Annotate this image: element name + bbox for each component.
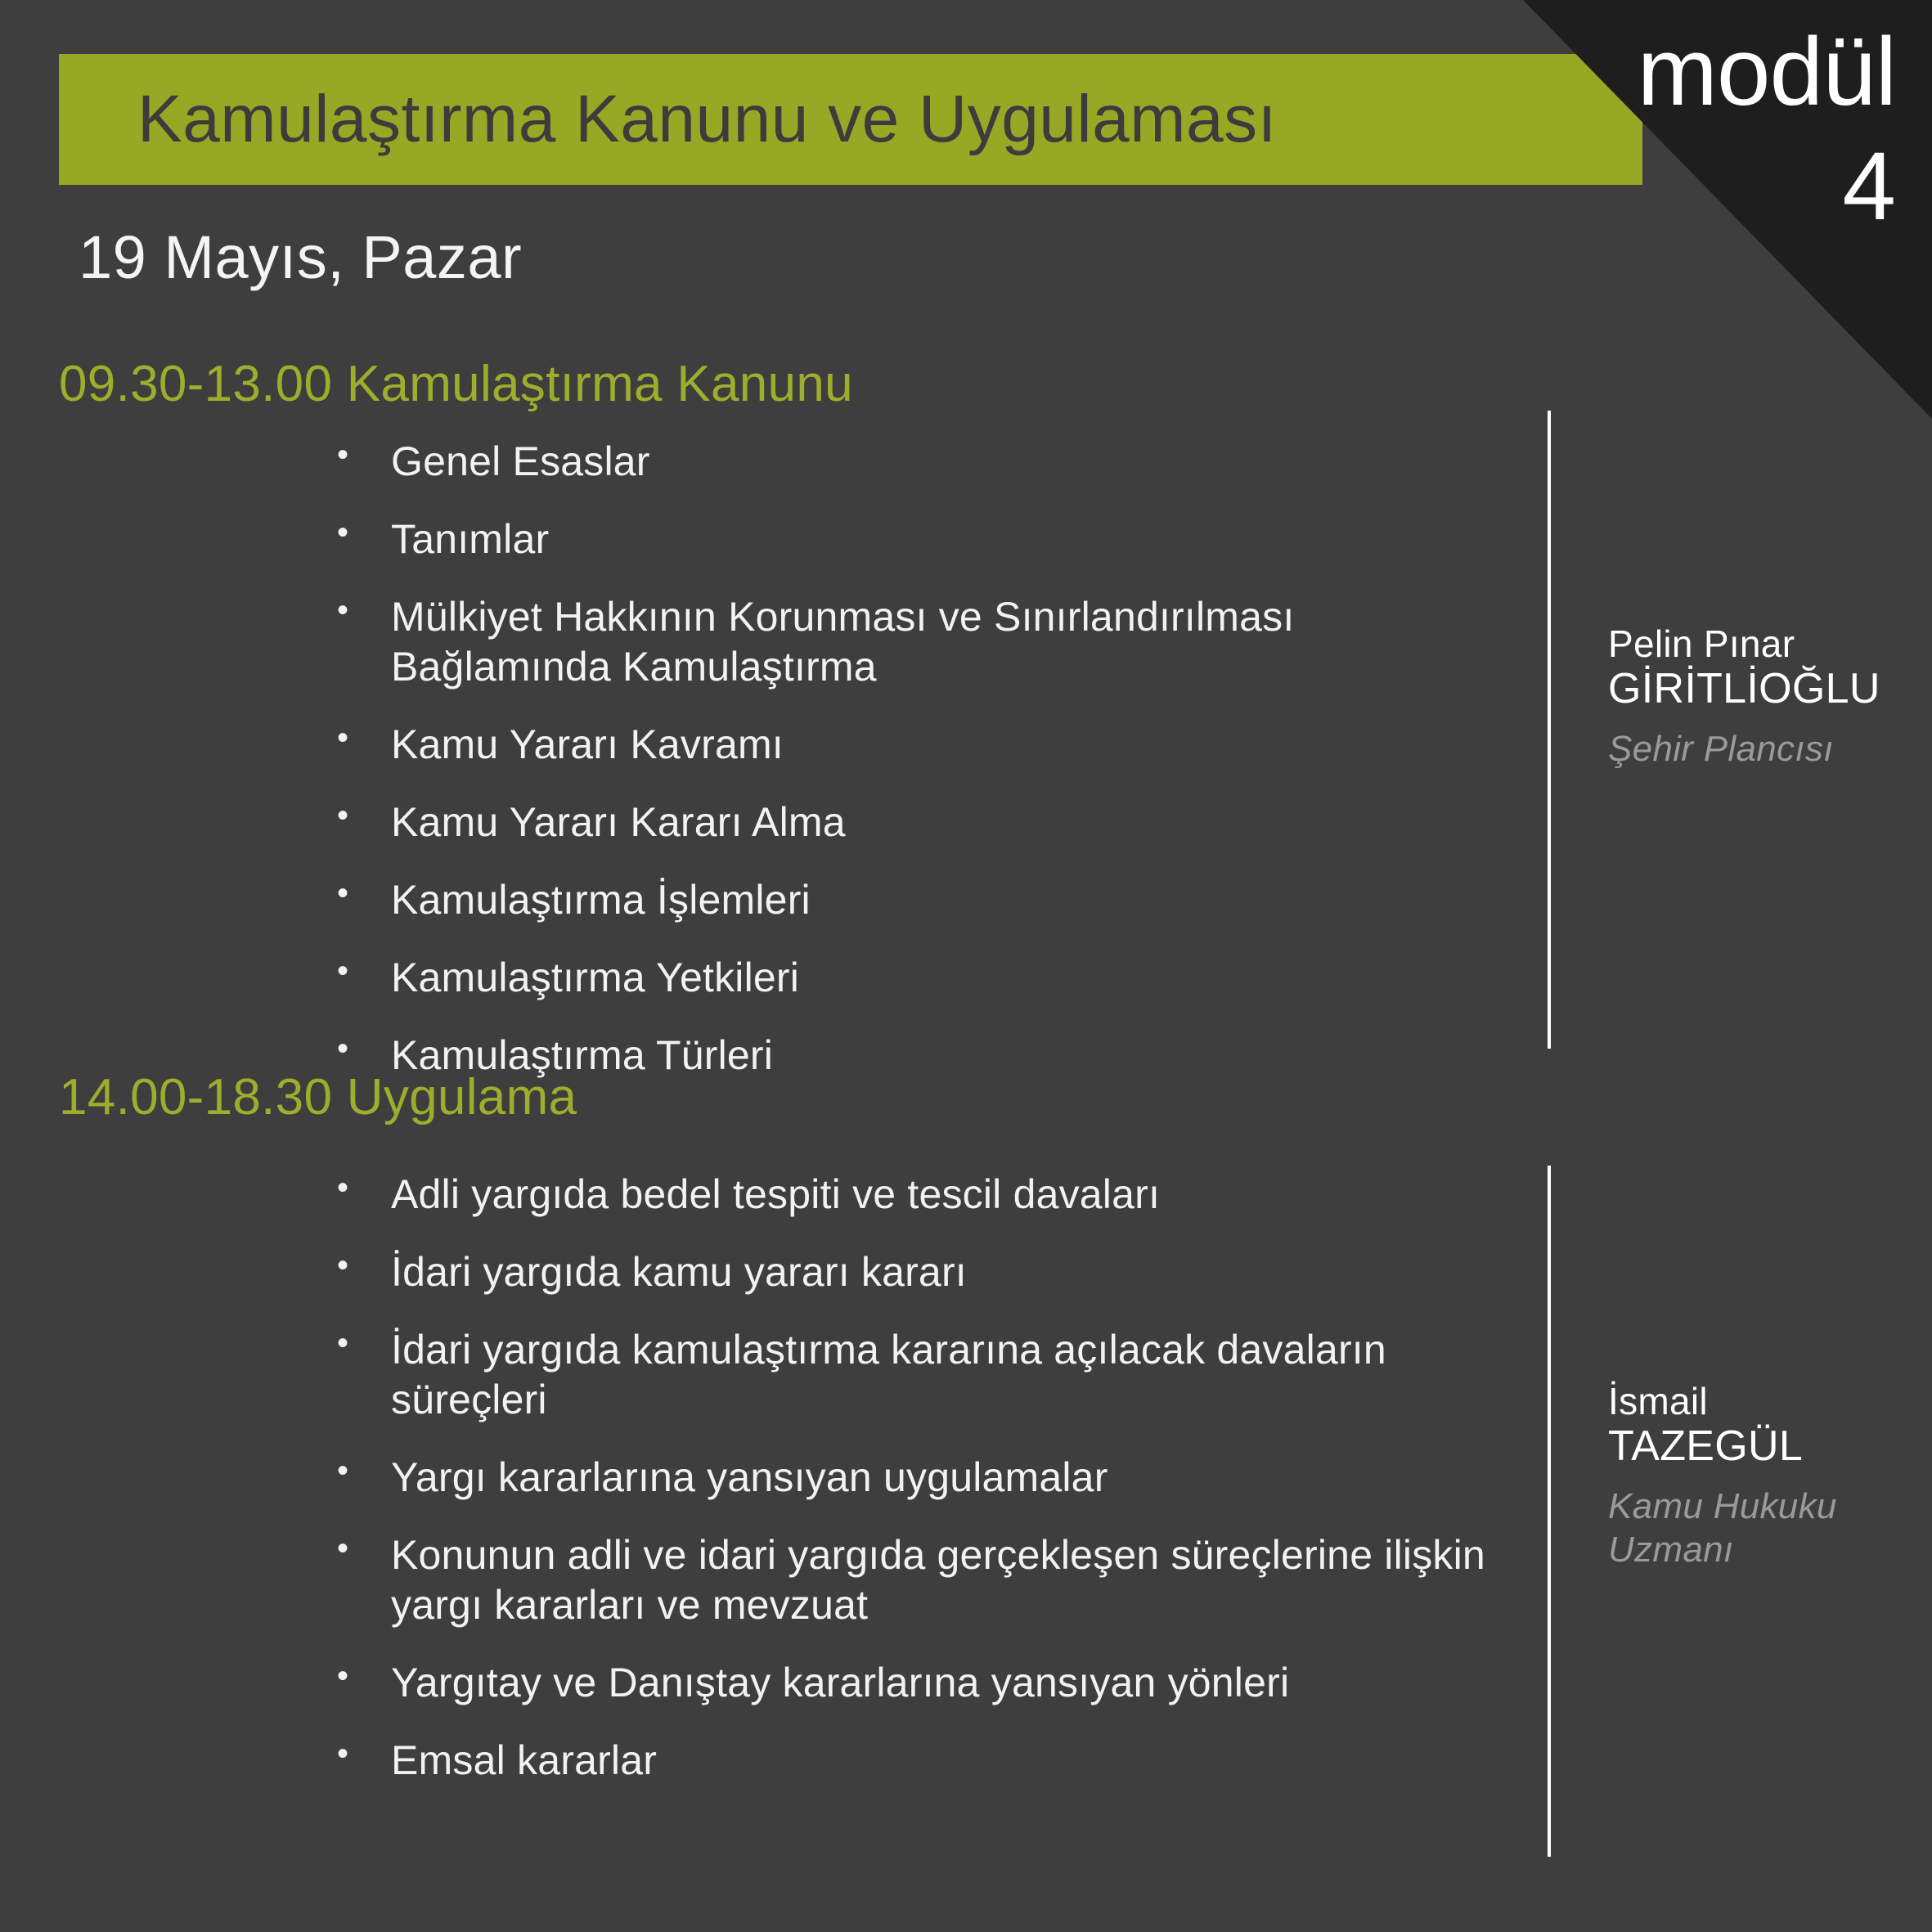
speaker-divider-afternoon [1548,1166,1551,1857]
list-item: Adli yargıda bedel tespiti ve tescil dav… [327,1170,1489,1220]
list-item: Genel Esaslar [327,437,1489,487]
session-header-morning: 09.30-13.00 Kamulaştırma Kanunu [59,355,853,413]
list-item: Yargıtay ve Danıştay kararlarına yansıya… [327,1658,1489,1708]
speaker-card-morning: Pelin Pınar GİRİTLİOĞLU Şehir Plancısı [1608,623,1903,771]
list-item: Kamu Yararı Kararı Alma [327,798,1489,847]
session-topics-morning: Genel EsaslarTanımlarMülkiyet Hakkının K… [327,437,1489,1108]
speaker-first-name: Pelin Pınar [1608,623,1903,666]
list-item: İdari yargıda kamulaştırma kararına açıl… [327,1325,1489,1425]
list-item: Tanımlar [327,514,1489,564]
module-number: 4 [1842,137,1896,236]
list-item: Kamulaştırma Yetkileri [327,953,1489,1003]
module-label: modül [1638,23,1896,121]
session-header-afternoon: 14.00-18.30 Uygulama [59,1068,577,1126]
speaker-last-name: GİRİTLİOĞLU [1608,666,1903,712]
speaker-divider-morning [1548,411,1551,1049]
speaker-card-afternoon: İsmail TAZEGÜL Kamu Hukuku Uzmanı [1608,1381,1903,1572]
list-item: Emsal kararlar [327,1736,1489,1786]
list-item: Yargı kararlarına yansıyan uygulamalar [327,1453,1489,1503]
list-item: Mülkiyet Hakkının Korunması ve Sınırland… [327,592,1489,692]
list-item: Kamulaştırma İşlemleri [327,875,1489,925]
list-item: Kamu Yararı Kavramı [327,720,1489,770]
speaker-last-name: TAZEGÜL [1608,1423,1903,1470]
slide-canvas: Kamulaştırma Kanunu ve Uygulaması modül … [0,0,1932,1932]
list-item: İdari yargıda kamu yararı kararı [327,1247,1489,1297]
date-heading: 19 Mayıs, Pazar [79,222,522,292]
page-title: Kamulaştırma Kanunu ve Uygulaması [137,81,1277,158]
session-topics-afternoon: Adli yargıda bedel tespiti ve tescil dav… [327,1170,1489,1813]
speaker-title: Şehir Plancısı [1608,727,1903,771]
title-bar: Kamulaştırma Kanunu ve Uygulaması [59,54,1642,185]
speaker-title: Kamu Hukuku Uzmanı [1608,1485,1903,1572]
speaker-first-name: İsmail [1608,1381,1903,1423]
list-item: Konunun adli ve idari yargıda gerçekleşe… [327,1530,1489,1630]
